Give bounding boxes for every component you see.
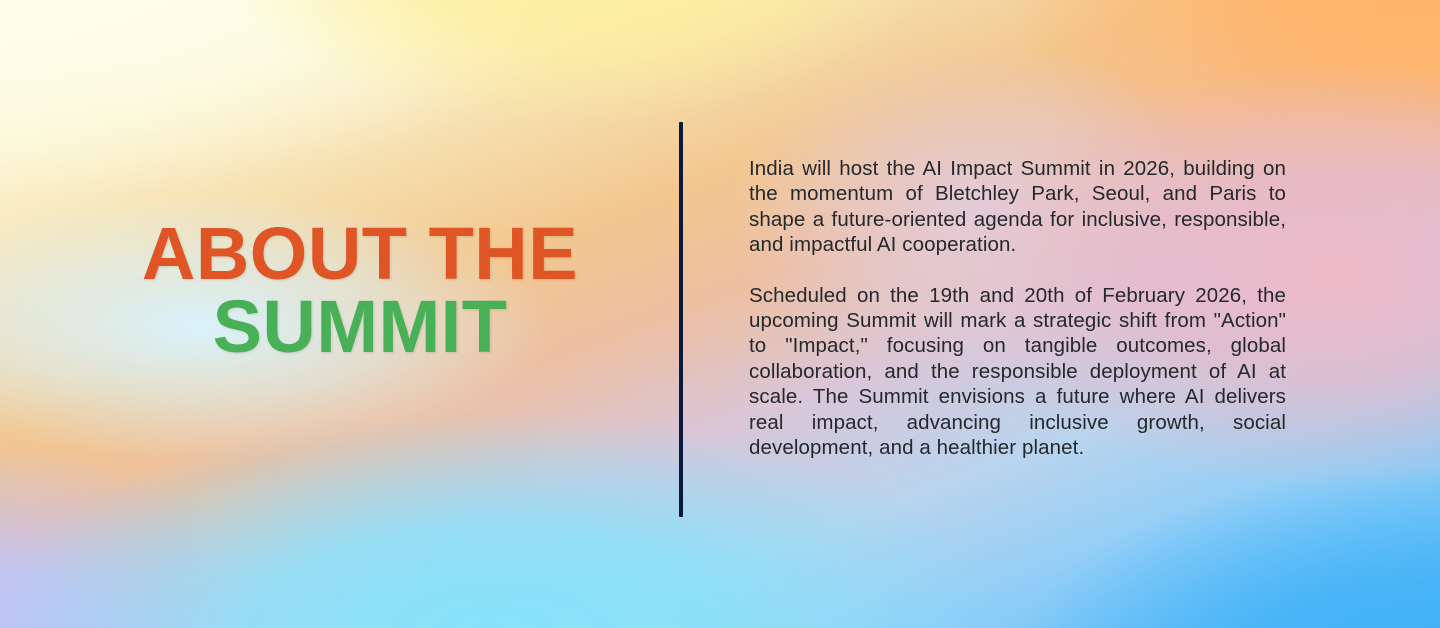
body-paragraph-2: Scheduled on the 19th and 20th of Februa…: [749, 283, 1286, 461]
page-title-line-1: ABOUT THE: [60, 218, 660, 291]
vertical-divider: [679, 122, 683, 517]
body-paragraph-1: India will host the AI Impact Summit in …: [749, 156, 1286, 258]
body-text-block: India will host the AI Impact Summit in …: [749, 156, 1286, 460]
page-title: ABOUT THE SUMMIT: [60, 218, 660, 363]
page-title-line-2: SUMMIT: [60, 291, 660, 364]
slide-canvas: ABOUT THE SUMMIT India will host the AI …: [0, 0, 1440, 628]
